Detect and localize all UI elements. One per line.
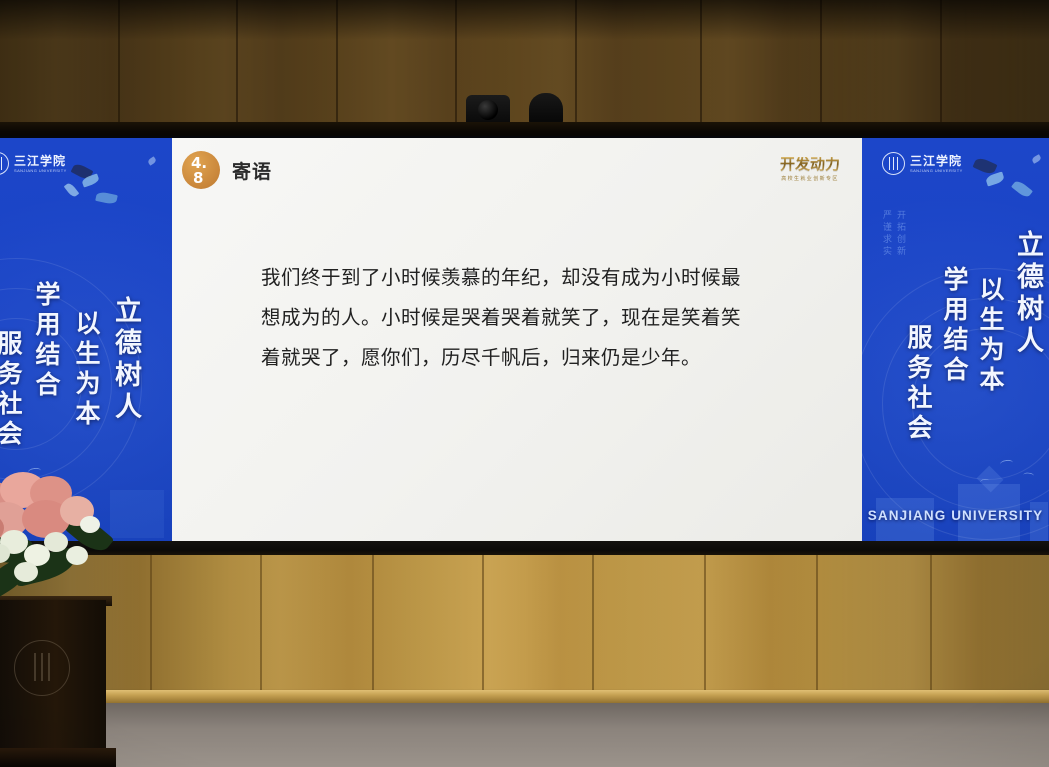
slide-header: 4. 8 寄语 开发动力 高校生就业创新专区 <box>172 138 862 200</box>
small-motto-2: 开拓创新 <box>894 210 907 258</box>
leaf-decoration-icon <box>64 182 80 199</box>
slide-paragraph-line-2: 想成为的人。小时候是哭着哭着就笑了，现在是笑着笑 <box>261 298 773 338</box>
led-screen: 三江学院 SANJIANG UNIVERSITY 立德树人 以生为本 学用结合 … <box>0 138 1049 544</box>
podium-base <box>0 748 116 767</box>
motto-column-1: 立德树人 <box>1008 230 1047 358</box>
camera-icon <box>466 95 510 125</box>
university-name-cn: 三江学院 <box>910 155 963 167</box>
motto-column-3: 学用结合 <box>28 281 64 401</box>
podium-emblem-icon <box>14 640 70 696</box>
motto-column-4: 服务社会 <box>0 330 26 450</box>
presentation-slide: 4. 8 寄语 开发动力 高校生就业创新专区 我们终于到了小时候羡慕的年纪，却没… <box>172 138 862 544</box>
section-number-badge: 4. 8 <box>182 151 220 189</box>
university-emblem-icon <box>882 152 905 175</box>
motto-column-3: 学用结合 <box>936 266 972 386</box>
sanjiang-university-footer: SANJIANG UNIVERSITY <box>862 508 1049 523</box>
university-name-en: SANJIANG UNIVERSITY <box>910 169 963 173</box>
badge-line-2: 8 <box>193 169 203 187</box>
leaf-decoration-icon <box>147 156 157 165</box>
university-logo-left: 三江学院 SANJIANG UNIVERSITY <box>0 152 67 175</box>
university-name-cn: 三江学院 <box>14 155 67 167</box>
slide-body: 我们终于到了小时候羡慕的年纪，却没有成为小时候最 想成为的人。小时候是哭着哭着就… <box>172 258 862 378</box>
university-name-en: SANJIANG UNIVERSITY <box>14 169 67 173</box>
university-emblem-icon <box>0 152 9 175</box>
leaf-decoration-icon <box>985 171 1005 186</box>
university-logo-right: 三江学院 SANJIANG UNIVERSITY <box>882 152 963 175</box>
leaf-decoration-icon <box>1011 179 1033 199</box>
slide-paragraph-line-3: 着就哭了，愿你们，历尽千帆后，归来仍是少年。 <box>261 338 773 378</box>
leaf-decoration-icon <box>95 191 118 205</box>
motto-column-4: 服务社会 <box>900 324 936 444</box>
slide-paragraph-line-1: 我们终于到了小时候羡慕的年纪，却没有成为小时候最 <box>261 258 773 298</box>
motto-column-1: 立德树人 <box>106 296 145 424</box>
motto-column-2: 以生为本 <box>68 310 104 430</box>
camera-icon <box>529 93 563 125</box>
leaf-decoration-icon <box>1031 154 1042 164</box>
flower-arrangement-icon <box>0 470 140 630</box>
baseboard-trim <box>0 690 1049 704</box>
small-motto-1: 严谨求实 <box>880 210 893 258</box>
side-panel-right: 三江学院 SANJIANG UNIVERSITY 严谨求实 开拓创新 立德树人 … <box>862 138 1049 544</box>
sponsor-tagline: 高校生就业创新专区 <box>781 175 839 182</box>
slide-title: 寄语 <box>232 157 272 184</box>
sponsor-logo-text: 开发动力 <box>780 157 840 172</box>
upper-wood-wall <box>0 0 1049 132</box>
stage-floor <box>0 703 1049 767</box>
motto-column-2: 以生为本 <box>972 276 1008 396</box>
photo-scene: 三江学院 SANJIANG UNIVERSITY 立德树人 以生为本 学用结合 … <box>0 0 1049 767</box>
sponsor-logo: 开发动力 高校生就业创新专区 <box>768 152 852 186</box>
